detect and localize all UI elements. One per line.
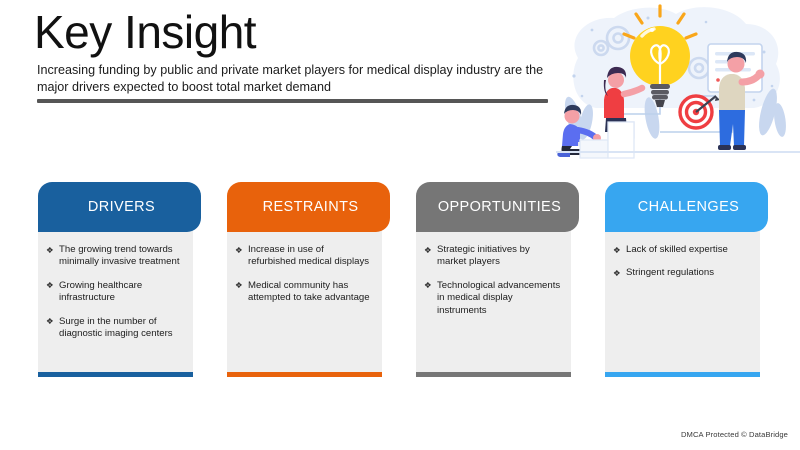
- diamond-bullet-icon: ❖: [613, 244, 621, 256]
- list-item-text: The growing trend towards minimally inva…: [59, 244, 180, 267]
- card-title-restraints: RESTRAINTS: [263, 199, 359, 215]
- card-header-opportunities: OPPORTUNITIES: [416, 182, 579, 232]
- card-title-challenges: CHALLENGES: [638, 199, 740, 215]
- card-header-challenges: CHALLENGES: [605, 182, 768, 232]
- page-subtitle: Increasing funding by public and private…: [37, 62, 562, 95]
- diamond-bullet-icon: ❖: [46, 244, 54, 256]
- list-item-text: Medical community has attempted to take …: [248, 280, 370, 303]
- card-header-restraints: RESTRAINTS: [227, 182, 390, 232]
- list-item: ❖ Medical community has attempted to tak…: [235, 280, 372, 305]
- diamond-bullet-icon: ❖: [235, 279, 243, 291]
- card-challenges[interactable]: CHALLENGES ❖ Lack of skilled expertise ❖…: [605, 182, 760, 377]
- list-item: ❖ Technological advancements in medical …: [424, 280, 561, 317]
- card-title-drivers: DRIVERS: [88, 199, 155, 215]
- card-header-drivers: DRIVERS: [38, 182, 201, 232]
- list-item-text: Lack of skilled expertise: [626, 244, 728, 255]
- list-item-text: Increase in use of refurbished medical d…: [248, 244, 369, 267]
- diamond-bullet-icon: ❖: [424, 244, 432, 256]
- card-opportunities[interactable]: OPPORTUNITIES ❖ Strategic initiatives by…: [416, 182, 571, 377]
- card-body-drivers: ❖ The growing trend towards minimally in…: [38, 222, 193, 372]
- bullet-list-drivers: ❖ The growing trend towards minimally in…: [46, 244, 183, 340]
- bullet-list-opportunities: ❖ Strategic initiatives by market player…: [424, 244, 561, 317]
- list-item-text: Surge in the number of diagnostic imagin…: [59, 316, 173, 339]
- list-item: ❖ The growing trend towards minimally in…: [46, 244, 183, 269]
- diamond-bullet-icon: ❖: [46, 315, 54, 327]
- list-item-text: Stringent regulations: [626, 267, 714, 278]
- bullet-list-restraints: ❖ Increase in use of refurbished medical…: [235, 244, 372, 305]
- card-body-restraints: ❖ Increase in use of refurbished medical…: [227, 222, 382, 372]
- title-divider-rule: [37, 99, 548, 103]
- list-item: ❖ Growing healthcare infrastructure: [46, 280, 183, 305]
- list-item-text: Technological advancements in medical di…: [437, 280, 560, 316]
- diamond-bullet-icon: ❖: [46, 279, 54, 291]
- card-drivers[interactable]: DRIVERS ❖ The growing trend towards mini…: [38, 182, 193, 377]
- list-item: ❖ Strategic initiatives by market player…: [424, 244, 561, 269]
- diamond-bullet-icon: ❖: [424, 279, 432, 291]
- card-title-opportunities: OPPORTUNITIES: [438, 199, 561, 215]
- card-accent-bar-opportunities: [416, 372, 571, 377]
- idea-innovation-illustration: [556, 0, 800, 160]
- list-item: ❖ Surge in the number of diagnostic imag…: [46, 316, 183, 341]
- list-item: ❖ Lack of skilled expertise: [613, 244, 750, 256]
- footer-credit: DMCA Protected © DataBridge: [681, 430, 788, 439]
- card-restraints[interactable]: RESTRAINTS ❖ Increase in use of refurbis…: [227, 182, 382, 377]
- list-item: ❖ Increase in use of refurbished medical…: [235, 244, 372, 269]
- diamond-bullet-icon: ❖: [613, 267, 621, 279]
- card-body-challenges: ❖ Lack of skilled expertise ❖ Stringent …: [605, 222, 760, 372]
- card-accent-bar-drivers: [38, 372, 193, 377]
- page-title: Key Insight: [34, 6, 256, 58]
- list-item-text: Growing healthcare infrastructure: [59, 280, 142, 303]
- list-item-text: Strategic initiatives by market players: [437, 244, 530, 267]
- card-body-opportunities: ❖ Strategic initiatives by market player…: [416, 222, 571, 372]
- card-accent-bar-restraints: [227, 372, 382, 377]
- bullet-list-challenges: ❖ Lack of skilled expertise ❖ Stringent …: [613, 244, 750, 280]
- diamond-bullet-icon: ❖: [235, 244, 243, 256]
- card-accent-bar-challenges: [605, 372, 760, 377]
- list-item: ❖ Stringent regulations: [613, 267, 750, 279]
